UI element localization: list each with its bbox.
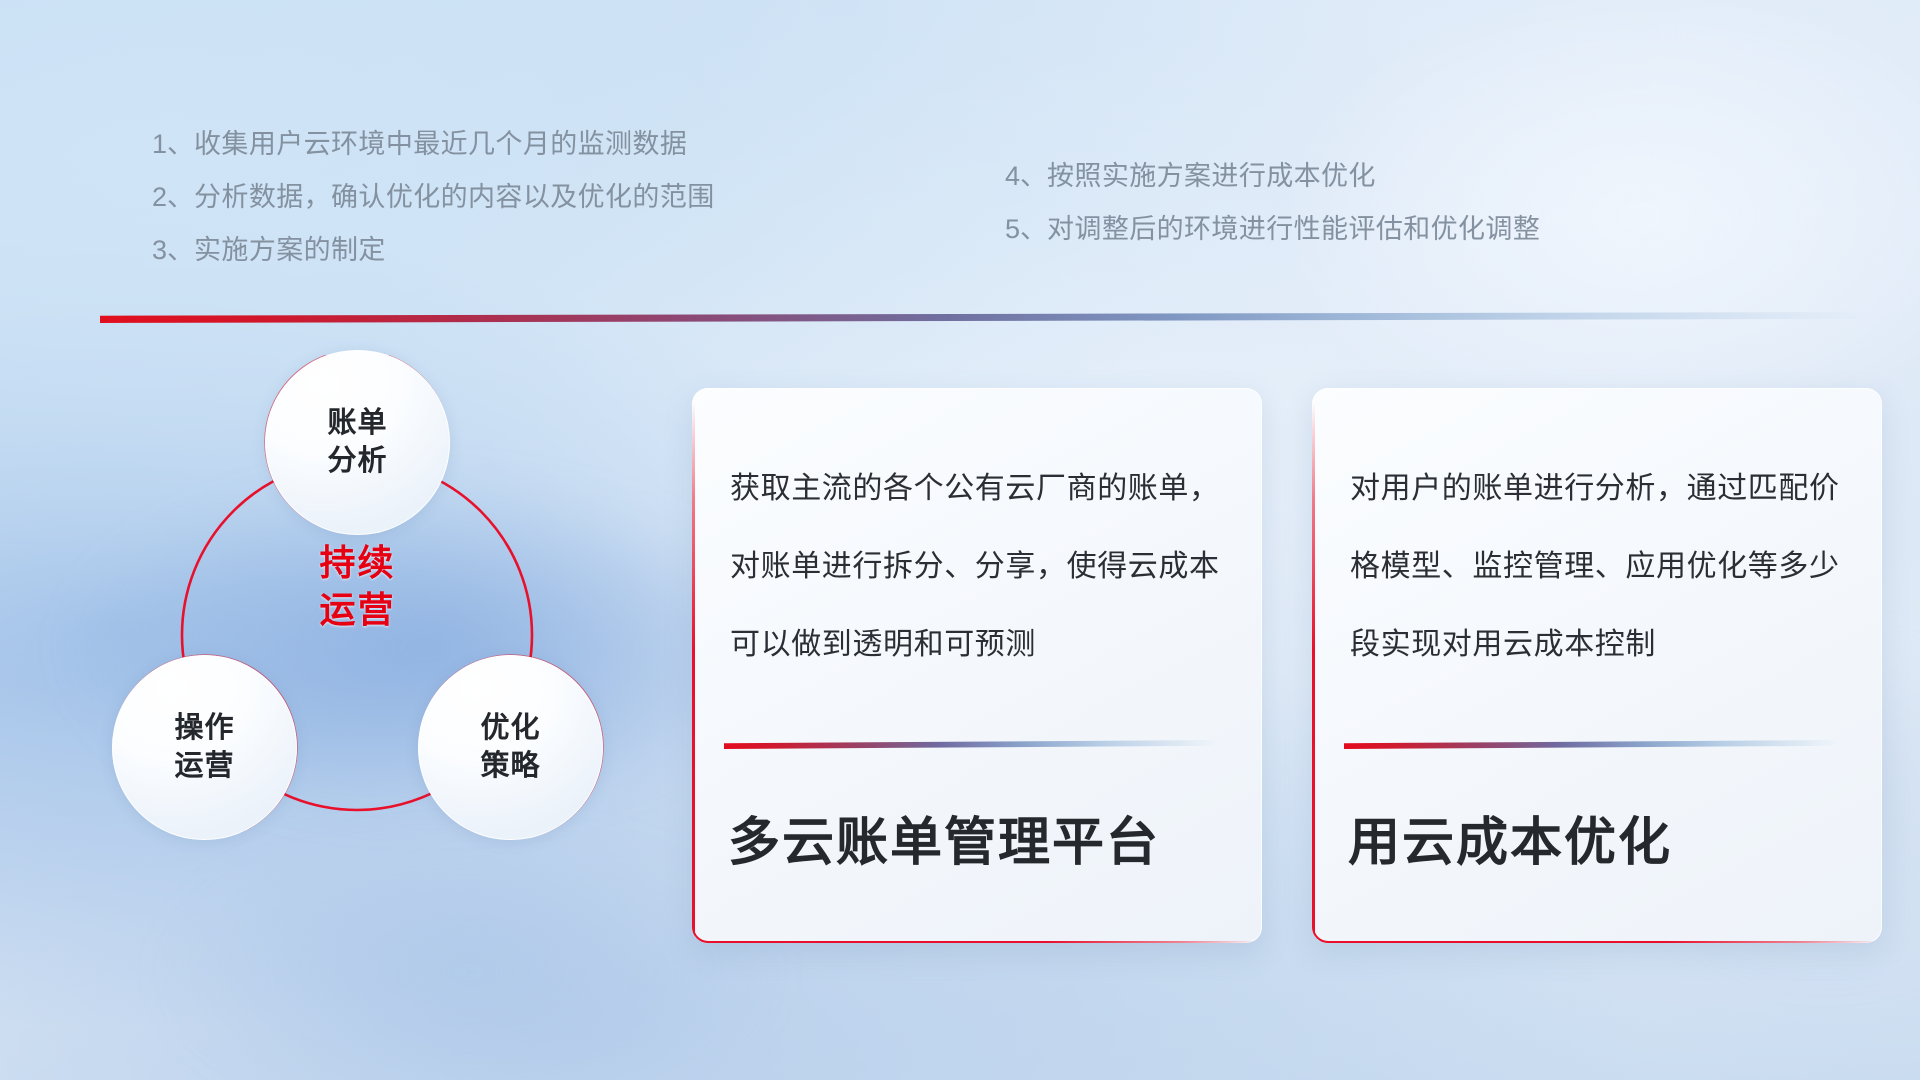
list-item-label: 收集用户云环境中最近几个月的监测数据 [194,129,687,159]
bubble-operations[interactable]: 操作运营 [112,655,297,840]
bubble-label: 操作运营 [174,710,234,784]
list-item: 2、分析数据，确认优化的内容以及优化的范围 [152,171,715,224]
list-item-number: 4、 [1005,161,1047,191]
list-item: 3、实施方案的制定 [152,224,715,277]
card-multi-cloud-bill-platform[interactable]: 获取主流的各个公有云厂商的账单，对账单进行拆分、分享，使得云成本可以做到透明和可… [692,388,1262,943]
list-item: 5、对调整后的环境进行性能评估和优化调整 [1005,203,1540,256]
card-cloud-cost-optimization[interactable]: 对用户的账单进行分析，通过匹配价格模型、监控管理、应用优化等多少段实现对用云成本… [1312,388,1882,943]
list-item-label: 对调整后的环境进行性能评估和优化调整 [1047,214,1540,244]
card-rule-bar [724,740,1224,749]
divider-bar [100,312,1890,323]
card-body-text: 获取主流的各个公有云厂商的账单，对账单进行拆分、分享，使得云成本可以做到透明和可… [730,450,1232,684]
steps-left-column: 1、收集用户云环境中最近几个月的监测数据 2、分析数据，确认优化的内容以及优化的… [152,118,715,277]
list-item-number: 5、 [1005,214,1047,244]
bubble-bill-analysis[interactable]: 账单分析 [265,350,450,535]
card-accent-left [692,402,695,943]
card-rule [1344,740,1844,749]
bubble-label: 优化策略 [480,710,540,784]
list-item-label: 按照实施方案进行成本优化 [1047,161,1376,191]
bubble-label: 账单分析 [327,405,387,479]
section-divider [100,312,1890,323]
card-rule-bar [1344,740,1844,749]
bubble-optimization[interactable]: 优化策略 [418,655,603,840]
list-item-label: 实施方案的制定 [194,235,386,265]
list-item: 4、按照实施方案进行成本优化 [1005,150,1540,203]
list-item: 1、收集用户云环境中最近几个月的监测数据 [152,118,715,171]
list-item-number: 1、 [152,129,194,159]
card-accent-corner [692,909,726,943]
card-accent-left [1312,402,1315,943]
card-title: 多云账单管理平台 [728,800,1238,875]
cycle-center-label: 持续运营 [255,540,460,634]
card-accent-corner [1312,909,1346,943]
steps-right-column: 4、按照实施方案进行成本优化 5、对调整后的环境进行性能评估和优化调整 [1005,150,1540,256]
cycle-diagram: 账单分析 操作运营 优化策略 持续运营 [95,355,655,955]
list-item-number: 2、 [152,182,194,212]
card-accent-bottom [1312,941,1882,944]
card-title: 用云成本优化 [1348,800,1858,875]
list-item-label: 分析数据，确认优化的内容以及优化的范围 [194,182,715,212]
card-rule [724,740,1224,749]
card-body-text: 对用户的账单进行分析，通过匹配价格模型、监控管理、应用优化等多少段实现对用云成本… [1350,450,1852,684]
card-accent-bottom [692,941,1262,944]
list-item-number: 3、 [152,235,194,265]
